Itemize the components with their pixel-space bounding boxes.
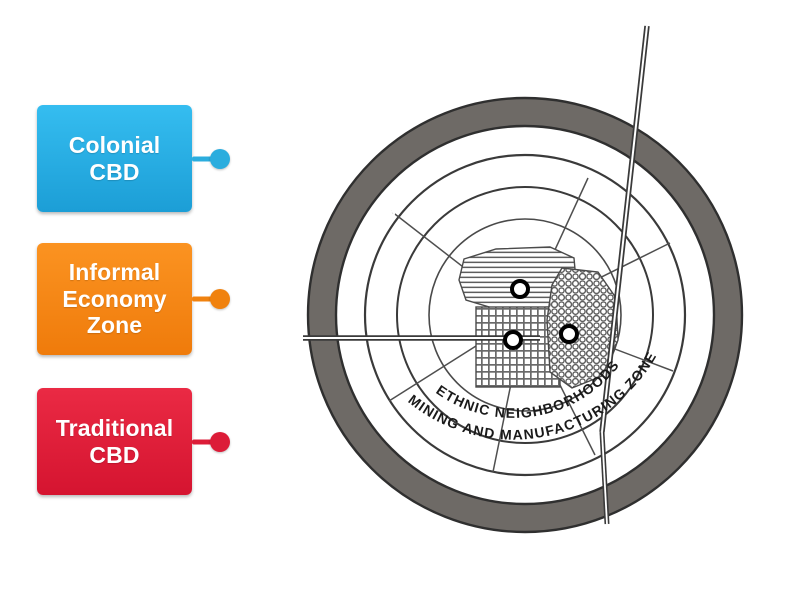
- connector-knob[interactable]: [210, 432, 230, 452]
- drop-target-3[interactable]: [561, 326, 577, 342]
- colonial-city-model-diagram: INFORMAL SETTLEMENTS MINING AND MANUFACT…: [250, 0, 800, 600]
- label-connector: [192, 432, 230, 452]
- label-text: Colonial CBD: [69, 132, 161, 185]
- draggable-label-informal-economy-zone[interactable]: Informal Economy Zone: [37, 243, 192, 355]
- label-connector: [192, 289, 230, 309]
- connector-stem: [192, 297, 218, 302]
- drop-target-1[interactable]: [512, 281, 528, 297]
- diagram-image-panel: INFORMAL SETTLEMENTS MINING AND MANUFACT…: [250, 0, 800, 600]
- connector-knob[interactable]: [210, 149, 230, 169]
- connector-stem: [192, 156, 218, 161]
- connector-stem: [192, 439, 218, 444]
- connector-knob[interactable]: [210, 289, 230, 309]
- drop-target-2[interactable]: [505, 332, 521, 348]
- draggable-label-traditional-cbd[interactable]: Traditional CBD: [37, 388, 192, 495]
- label-text: Traditional CBD: [56, 415, 173, 468]
- label-text: Informal Economy Zone: [62, 259, 166, 339]
- draggable-label-colonial-cbd[interactable]: Colonial CBD: [37, 105, 192, 212]
- label-connector: [192, 149, 230, 169]
- label-list: Colonial CBD Informal Economy Zone Tradi…: [0, 0, 250, 600]
